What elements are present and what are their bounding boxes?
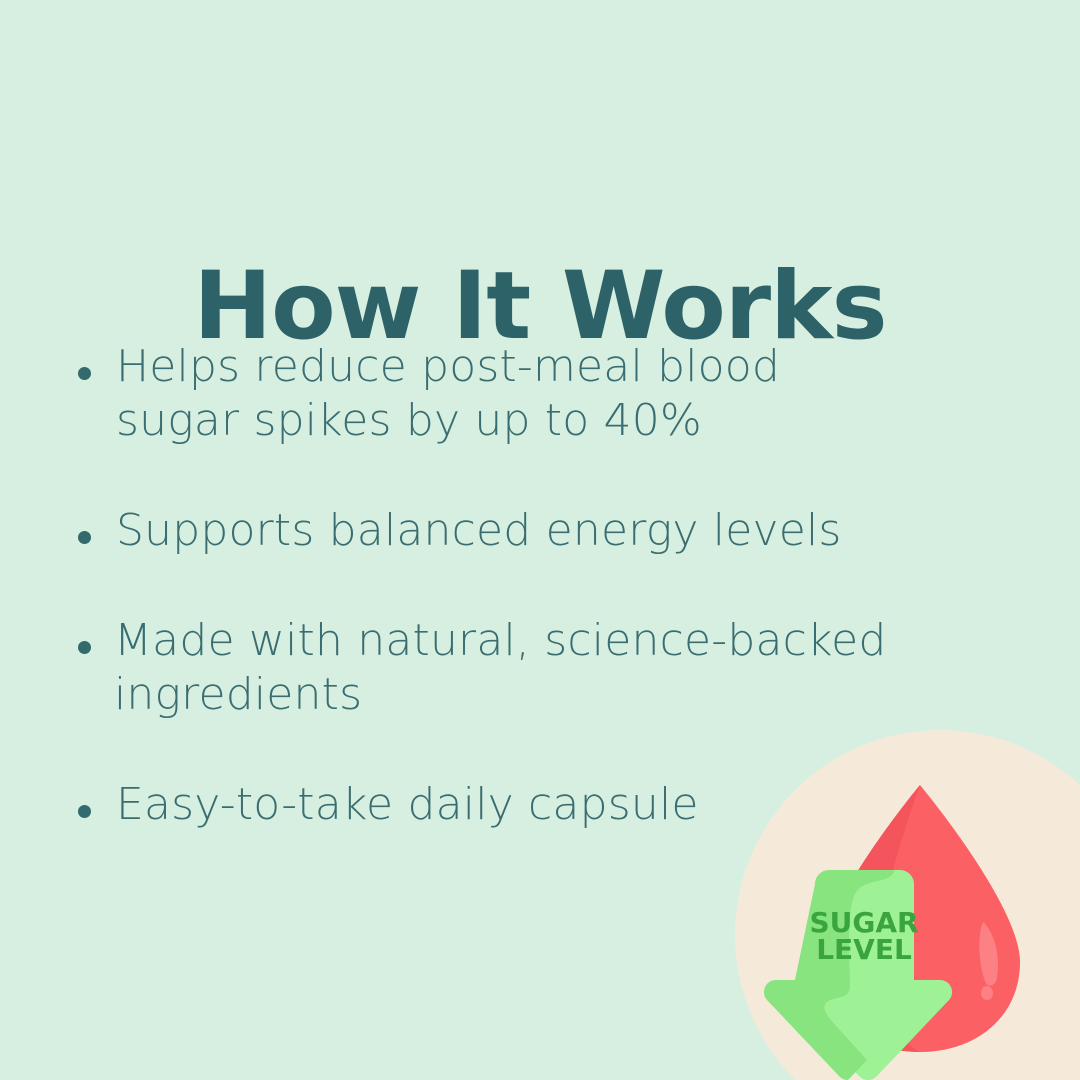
- bullet-dot-icon: [78, 367, 91, 380]
- list-item-label: Made with natural, science-backed ingred…: [114, 614, 904, 722]
- sugar-level-label-line2: LEVEL: [816, 933, 912, 966]
- list-item-label: Helps reduce post-meal blood sugar spike…: [116, 340, 816, 448]
- list-item-label: Easy-to-take daily capsule: [116, 778, 916, 832]
- list-item: Supports balanced energy levels: [78, 504, 978, 558]
- blood-drop-highlight-dot: [981, 986, 993, 1000]
- benefits-list: Helps reduce post-meal blood sugar spike…: [78, 340, 978, 832]
- list-item: Made with natural, science-backed ingred…: [78, 614, 978, 722]
- list-item: Helps reduce post-meal blood sugar spike…: [78, 340, 978, 448]
- bullet-dot-icon: [78, 641, 91, 654]
- bullet-dot-icon: [78, 531, 91, 544]
- list-item-label: Supports balanced energy levels: [116, 504, 916, 558]
- how-it-works-slide: SUGAR LEVEL How It Works Helps reduce po…: [0, 0, 1080, 1080]
- list-item: Easy-to-take daily capsule: [78, 778, 978, 832]
- bullet-dot-icon: [78, 805, 91, 818]
